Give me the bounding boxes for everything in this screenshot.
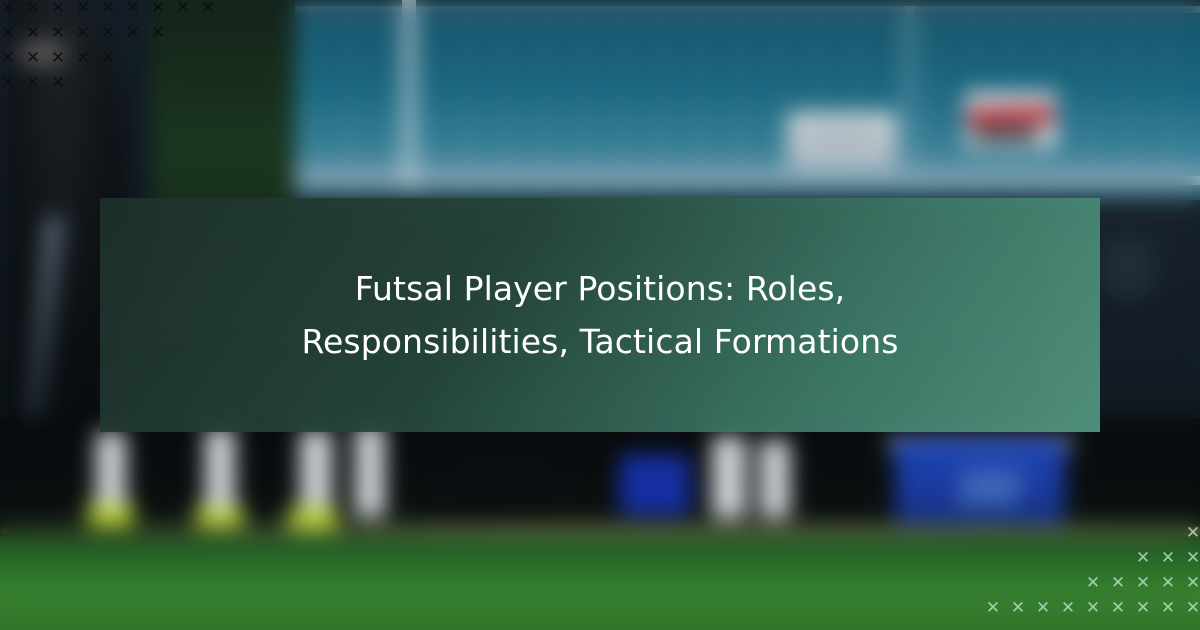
social-share-card: ✕✕✕✕✕✕✕✕✕✕✕✕✕✕✕✕✕✕✕✕✕✕✕✕ ✕✕✕✕✕✕✕✕✕✕✕✕✕✕✕…: [0, 0, 1200, 630]
title-overlay-panel: Futsal Player Positions: Roles, Responsi…: [100, 198, 1100, 432]
page-title: Futsal Player Positions: Roles, Responsi…: [280, 262, 920, 369]
